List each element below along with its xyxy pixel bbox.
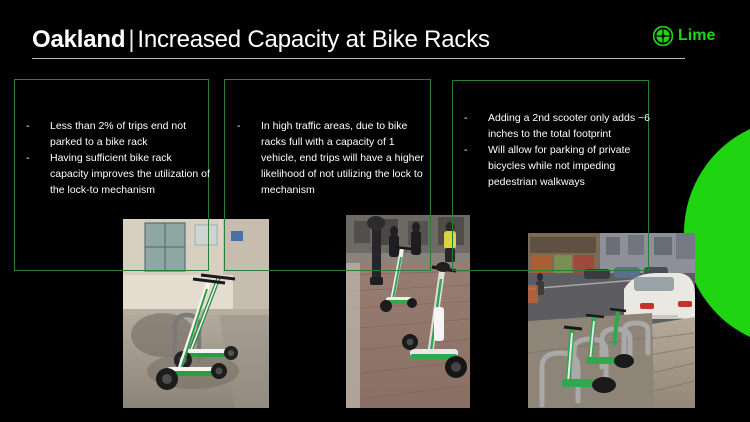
title-subject: Increased Capacity at Bike Racks <box>137 26 489 53</box>
bullet-list-column-1: - Less than 2% of trips end not parked t… <box>26 118 211 198</box>
lime-logo: Lime <box>653 26 715 46</box>
bullet-list-column-2: - In high traffic areas, due to bike rac… <box>237 118 433 198</box>
title-underline-rule <box>32 58 685 59</box>
list-item: - Will allow for parking of private bicy… <box>464 142 654 190</box>
bullet-text: Will allow for parking of private bicycl… <box>488 142 654 190</box>
bullet-list-column-3: - Adding a 2nd scooter only adds ~6 inch… <box>464 110 654 190</box>
bullet-marker: - <box>237 118 261 134</box>
bullet-marker: - <box>26 118 50 134</box>
bullet-marker: - <box>26 150 50 166</box>
bullet-text: Having sufficient bike rack capacity imp… <box>50 150 211 198</box>
bullet-text: Less than 2% of trips end not parked to … <box>50 118 211 150</box>
title-location: Oakland <box>32 26 125 53</box>
bullet-text: In high traffic areas, due to bike racks… <box>261 118 433 198</box>
list-item: - Having sufficient bike rack capacity i… <box>26 150 211 198</box>
slide-header: Oakland|Increased Capacity at Bike Racks… <box>0 0 750 62</box>
lime-logo-text: Lime <box>678 26 715 46</box>
list-item: - Less than 2% of trips end not parked t… <box>26 118 211 150</box>
page-title: Oakland|Increased Capacity at Bike Racks <box>32 25 490 55</box>
lime-wheel-icon <box>653 26 673 46</box>
slide-canvas: Oakland|Increased Capacity at Bike Racks… <box>0 0 750 422</box>
bullet-text: Adding a 2nd scooter only adds ~6 inches… <box>488 110 654 142</box>
bullet-marker: - <box>464 110 488 126</box>
title-divider: | <box>125 26 137 53</box>
bullet-marker: - <box>464 142 488 158</box>
list-item: - Adding a 2nd scooter only adds ~6 inch… <box>464 110 654 142</box>
list-item: - In high traffic areas, due to bike rac… <box>237 118 433 198</box>
